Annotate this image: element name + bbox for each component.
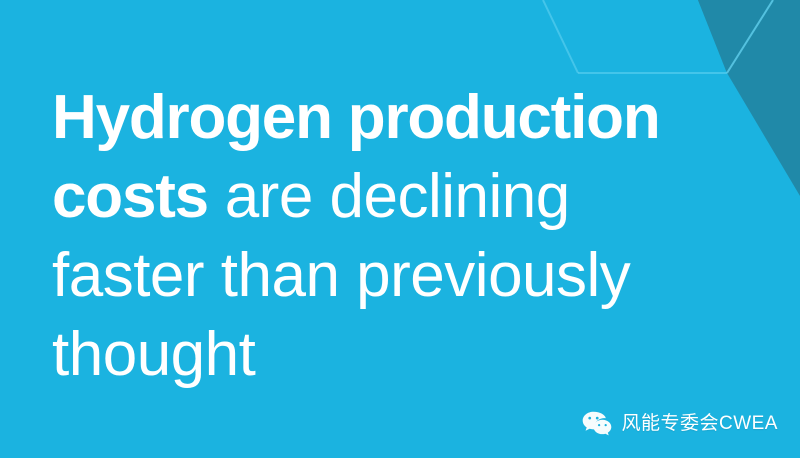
headline-line-4: thought	[52, 315, 772, 394]
headline-line-4-light: thought	[52, 320, 255, 389]
wechat-icon	[582, 410, 612, 436]
headline-line-3-light: faster than previously	[52, 241, 630, 310]
headline-line-3: faster than previously	[52, 236, 772, 315]
watermark-label: 风能专委会CWEA	[621, 414, 778, 433]
hexagon-outline-right	[727, 0, 773, 73]
headline-line-2-light: are declining	[208, 162, 570, 231]
hexagon-outline-left	[543, 0, 578, 73]
wechat-watermark: 风能专委会CWEA	[582, 410, 778, 436]
headline-line-1: Hydrogen production	[52, 78, 772, 157]
headline: Hydrogen production costs are declining …	[52, 78, 772, 394]
headline-line-2: costs are declining	[52, 157, 772, 236]
poster-canvas: Hydrogen production costs are declining …	[0, 0, 800, 458]
dark-chevron-upper-shape	[698, 0, 773, 73]
headline-line-2-bold: costs	[52, 162, 208, 231]
headline-line-1-bold: Hydrogen production	[52, 83, 660, 152]
